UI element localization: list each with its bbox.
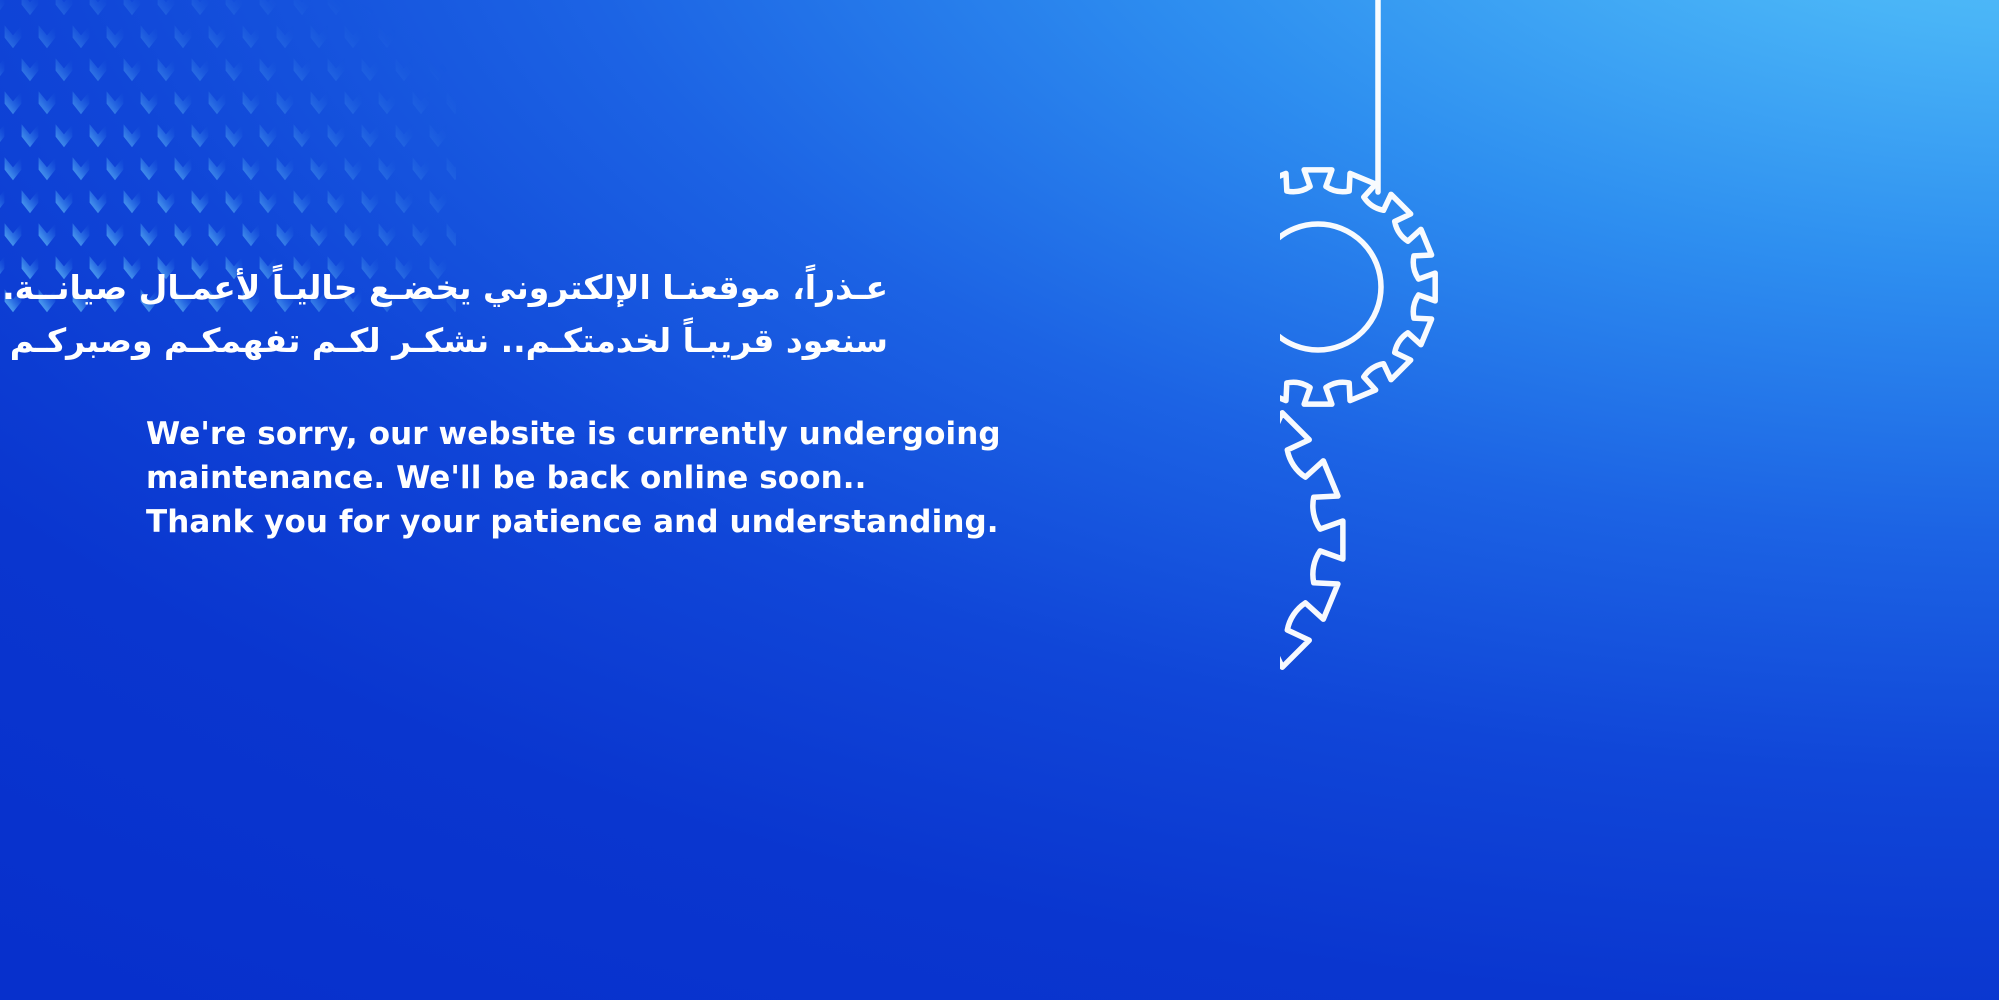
maintenance-message: عـذراً، موقعنـا الإلكتروني يخضـع حاليـاً…	[146, 262, 1086, 544]
gear-large-outline	[1280, 379, 1343, 701]
gear-small-hub	[1280, 224, 1381, 350]
english-message: We're sorry, our website is currently un…	[146, 412, 1086, 544]
arabic-line-1: عـذراً، موقعنـا الإلكتروني يخضـع حاليـاً…	[146, 262, 888, 315]
maintenance-page: عـذراً، موقعنـا الإلكتروني يخضـع حاليـاً…	[0, 0, 1999, 1000]
english-line-1: We're sorry, our website is currently un…	[146, 412, 1086, 456]
arabic-line-2: سنعود قريبـاً لخدمتكـم.. نشكـر لكـم تفهم…	[146, 315, 888, 368]
english-line-2: maintenance. We'll be back online soon..	[146, 456, 1086, 500]
gear-small-outline	[1280, 170, 1435, 404]
english-line-3: Thank you for your patience and understa…	[146, 500, 1086, 544]
gear-illustration	[1280, 0, 1999, 1000]
arabic-message: عـذراً، موقعنـا الإلكتروني يخضـع حاليـاً…	[146, 262, 888, 368]
